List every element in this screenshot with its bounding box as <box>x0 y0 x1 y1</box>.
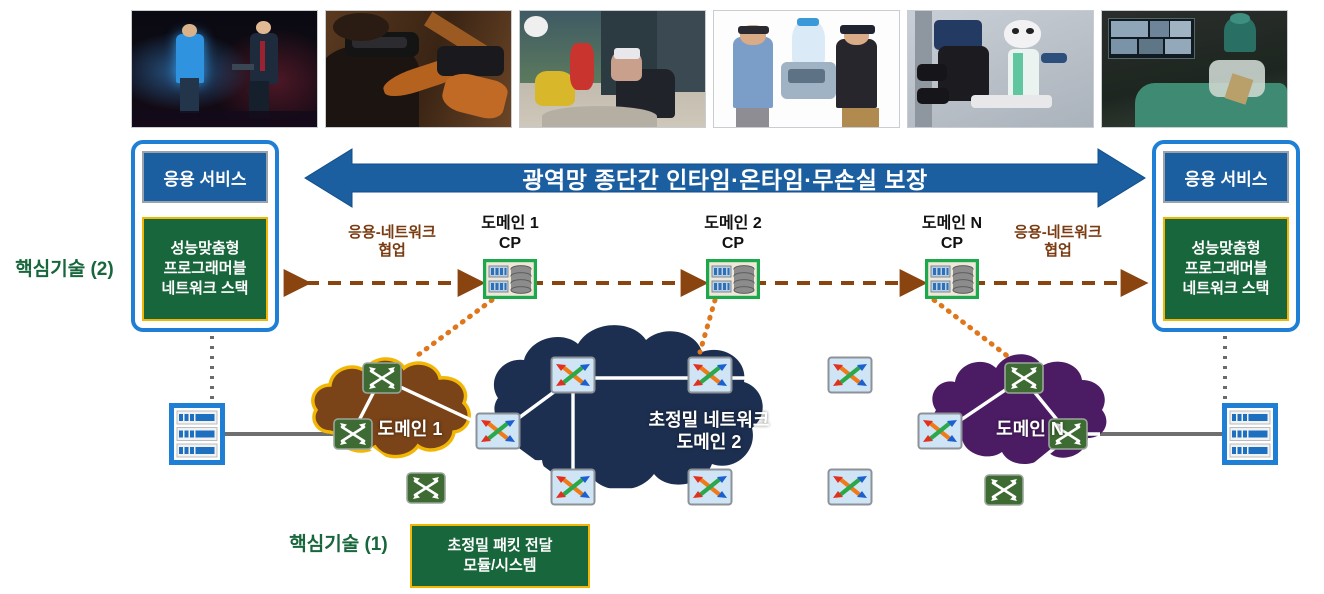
app-service-box: 응용 서비스 <box>142 151 268 203</box>
switch-icon[interactable] <box>1005 363 1043 393</box>
cp-label-line-2: CP <box>673 234 793 254</box>
app-service-panel-right: 응용 서비스 성능맞춤형 프로그래머블 네트워크 스택 <box>1152 140 1300 332</box>
switch-icon[interactable] <box>363 363 401 393</box>
cloud-label-line-1: 도메인 1 <box>355 419 465 441</box>
cloud-label-domain-2: 초정밀 네트워크 도메인 2 <box>594 410 824 454</box>
stack-line-2: 프로그래머블 <box>1185 259 1268 279</box>
collab-label-left: 응용-네트워크 협업 <box>312 224 472 261</box>
collab-line-1: 응용-네트워크 <box>978 224 1138 242</box>
cloud-label-domain-1: 도메인 1 <box>355 419 465 441</box>
router-icon[interactable] <box>552 470 595 505</box>
core-tech-1-box-line-1: 초정밀 패킷 전달 <box>448 536 553 556</box>
router-icon[interactable] <box>477 414 520 449</box>
stack-line-2: 프로그래머블 <box>164 259 247 279</box>
app-service-box: 응용 서비스 <box>1163 151 1289 203</box>
core-tech-1-box: 초정밀 패킷 전달 모듈/시스템 <box>410 524 590 588</box>
stack-line-1: 성능맞춤형 <box>1191 239 1260 259</box>
router-icon[interactable] <box>829 470 872 505</box>
banner-arrow-label: 광역망 종단간 인타임·온타임·무손실 보장 <box>305 147 1145 209</box>
router-icon[interactable] <box>689 358 732 393</box>
collab-line-1: 응용-네트워크 <box>312 224 472 242</box>
cloud-label-line-2: 도메인 2 <box>594 432 824 454</box>
app-service-panel-left: 응용 서비스 성능맞춤형 프로그래머블 네트워크 스택 <box>131 140 279 332</box>
programmable-network-stack-box: 성능맞춤형 프로그래머블 네트워크 스택 <box>142 217 268 321</box>
collab-line-2: 협업 <box>978 242 1138 260</box>
cloud-label-line-1: 도메인 N <box>975 419 1085 441</box>
core-tech-1-text: 핵심기술 (1) <box>289 534 387 555</box>
cp-server-icon[interactable] <box>485 261 536 298</box>
switch-icon[interactable] <box>407 473 445 503</box>
router-icon[interactable] <box>689 470 732 505</box>
stack-line-1: 성능맞춤형 <box>170 239 239 259</box>
stack-line-3: 네트워크 스택 <box>162 279 249 299</box>
core-tech-1-box-line-2: 모듈/시스템 <box>463 556 536 576</box>
collab-label-right: 응용-네트워크 협업 <box>978 224 1138 261</box>
server-rack-icon[interactable] <box>171 405 223 463</box>
cp-to-cloud-dotted <box>414 300 1010 358</box>
programmable-network-stack-box: 성능맞춤형 프로그래머블 네트워크 스택 <box>1163 217 1289 321</box>
cloud-label-line-1: 초정밀 네트워크 <box>594 410 824 432</box>
cp-server-icon[interactable] <box>708 261 759 298</box>
router-icon[interactable] <box>919 414 962 449</box>
cloud-label-domain-n: 도메인 N <box>975 419 1085 441</box>
server-rack-icon[interactable] <box>1224 405 1276 463</box>
stack-line-3: 네트워크 스택 <box>1183 279 1270 299</box>
switch-icon[interactable] <box>985 475 1023 505</box>
core-tech-2-text: 핵심기술 (2) <box>15 259 113 280</box>
cp-label-line-1: 도메인 2 <box>673 214 793 234</box>
cp-server-icon[interactable] <box>927 261 978 298</box>
banner-text: 광역망 종단간 인타임·온타임·무손실 보장 <box>305 147 1145 209</box>
cp-label-domain-2: 도메인 2 CP <box>673 214 793 253</box>
collab-line-2: 협업 <box>312 242 472 260</box>
core-tech-2-label: 핵심기술 (2) <box>2 258 127 281</box>
core-tech-1-label: 핵심기술 (1) <box>276 533 401 556</box>
router-icon[interactable] <box>552 358 595 393</box>
router-icon[interactable] <box>829 358 872 393</box>
